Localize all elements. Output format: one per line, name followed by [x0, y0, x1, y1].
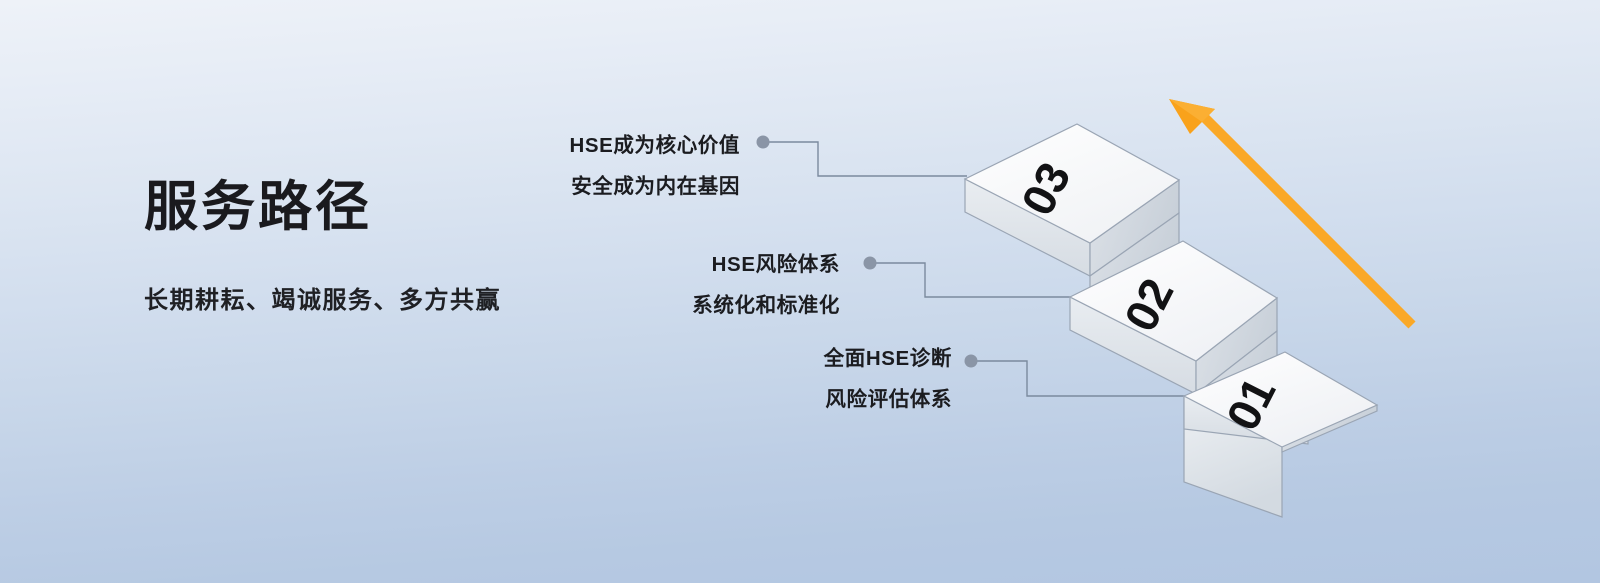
slide-canvas: 服务路径 长期耕耘、竭诚服务、多方共赢: [0, 0, 1600, 583]
callout-03-line-1: HSE成为核心价值: [569, 134, 740, 157]
callout-01-line-2: 风险评估体系: [544, 370, 952, 411]
callout-step-01: 全面HSE诊断 风险评估体系: [544, 349, 952, 410]
connector-dot-03: [757, 136, 770, 149]
connector-step-02: [864, 257, 1073, 298]
callout-02-line-1: HSE风险体系: [712, 253, 840, 276]
callout-03-line-2: 安全成为内在基因: [300, 157, 740, 198]
connector-step-03: [757, 136, 968, 177]
callout-step-02: HSE风险体系 系统化和标准化: [424, 255, 840, 316]
connector-dot-02: [864, 257, 877, 270]
callout-02-line-2: 系统化和标准化: [424, 276, 840, 317]
callout-01-line-1: 全面HSE诊断: [824, 347, 952, 370]
callout-step-03: HSE成为核心价值 安全成为内在基因: [300, 136, 740, 197]
connector-dot-01: [965, 355, 978, 368]
